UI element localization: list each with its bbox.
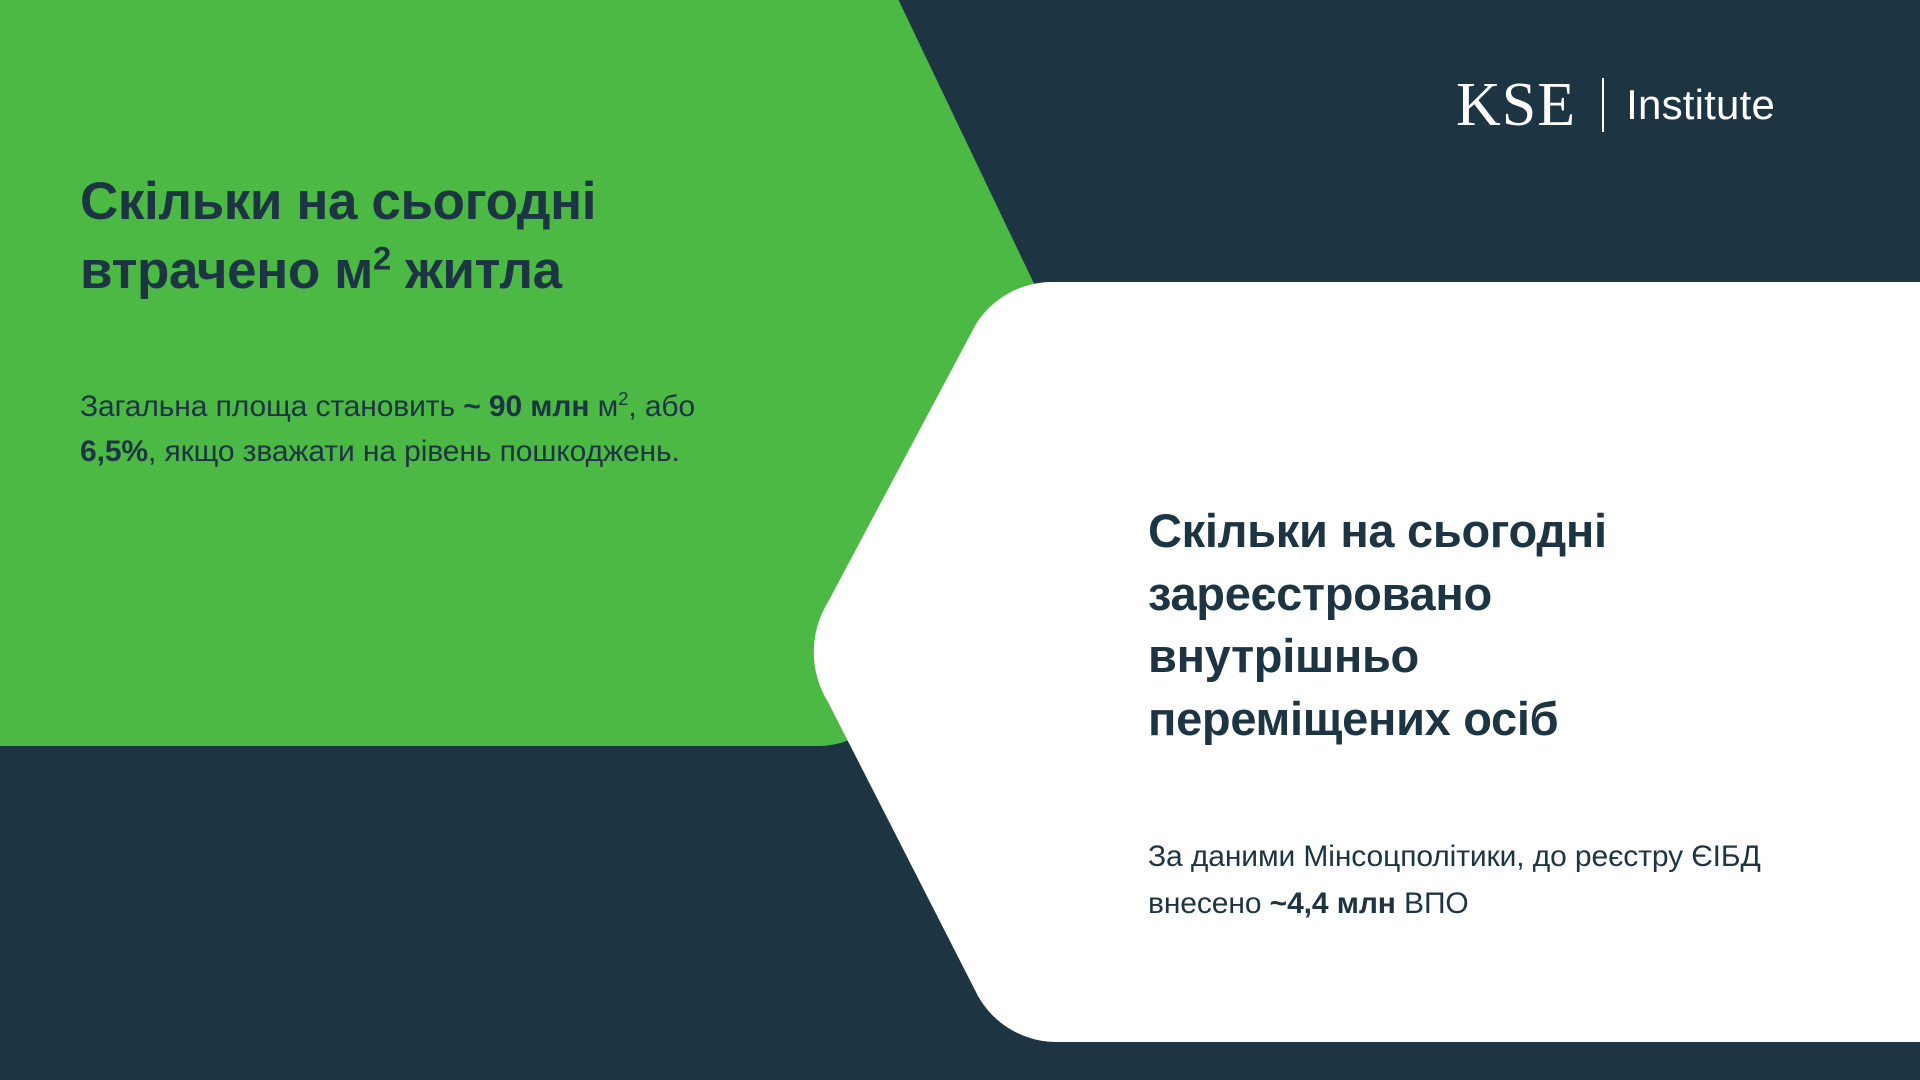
white-body-bold-count: ~4,4 млн [1270, 887, 1396, 920]
green-body-superscript: 2 [618, 388, 628, 409]
white-title-line-3: внутрішньо [1148, 629, 1419, 682]
white-panel-title: Скільки на сьогодні зареєстровано внутрі… [1148, 500, 1848, 750]
white-title-line-4: переміщених осіб [1148, 692, 1558, 745]
green-body-part-3: , або [628, 390, 695, 423]
white-panel-content: Скільки на сьогодні зареєстровано внутрі… [1148, 500, 1848, 927]
green-body-part-1: Загальна площа становить [80, 390, 463, 423]
green-body-bold-percent: 6,5% [80, 435, 148, 468]
white-panel-body: За даними Мінсоцполітики, до реєстру ЄІБ… [1148, 834, 1848, 927]
green-panel-title: Скільки на сьогодні втрачено м2 житла [80, 168, 800, 306]
logo-kse-mark: KSE [1456, 74, 1576, 136]
green-panel-body: Загальна площа становить ~ 90 млн м2, аб… [80, 384, 740, 475]
logo-institute-word: Institute [1626, 84, 1775, 126]
white-body-part-2: ВПО [1396, 887, 1469, 920]
slide-canvas: KSE Institute Скільки на сьогодні втраче… [0, 0, 1920, 1080]
white-title-line-1: Скільки на сьогодні [1148, 504, 1607, 557]
green-title-superscript: 2 [373, 239, 391, 276]
green-body-bold-area: ~ 90 млн [463, 390, 589, 423]
green-title-line-1: Скільки на сьогодні [80, 172, 596, 231]
green-panel-content: Скільки на сьогодні втрачено м2 житла За… [80, 168, 800, 475]
green-body-part-2: м [589, 390, 618, 423]
green-body-part-4: , якщо зважати на рівень пошкоджень. [148, 435, 680, 468]
logo-divider-icon [1602, 78, 1604, 132]
white-title-line-2: зареєстровано [1148, 567, 1492, 620]
green-title-line-2-pre: втрачено м [80, 241, 373, 300]
kse-institute-logo: KSE Institute [1456, 72, 1775, 138]
green-title-line-2-post: житла [391, 241, 562, 300]
